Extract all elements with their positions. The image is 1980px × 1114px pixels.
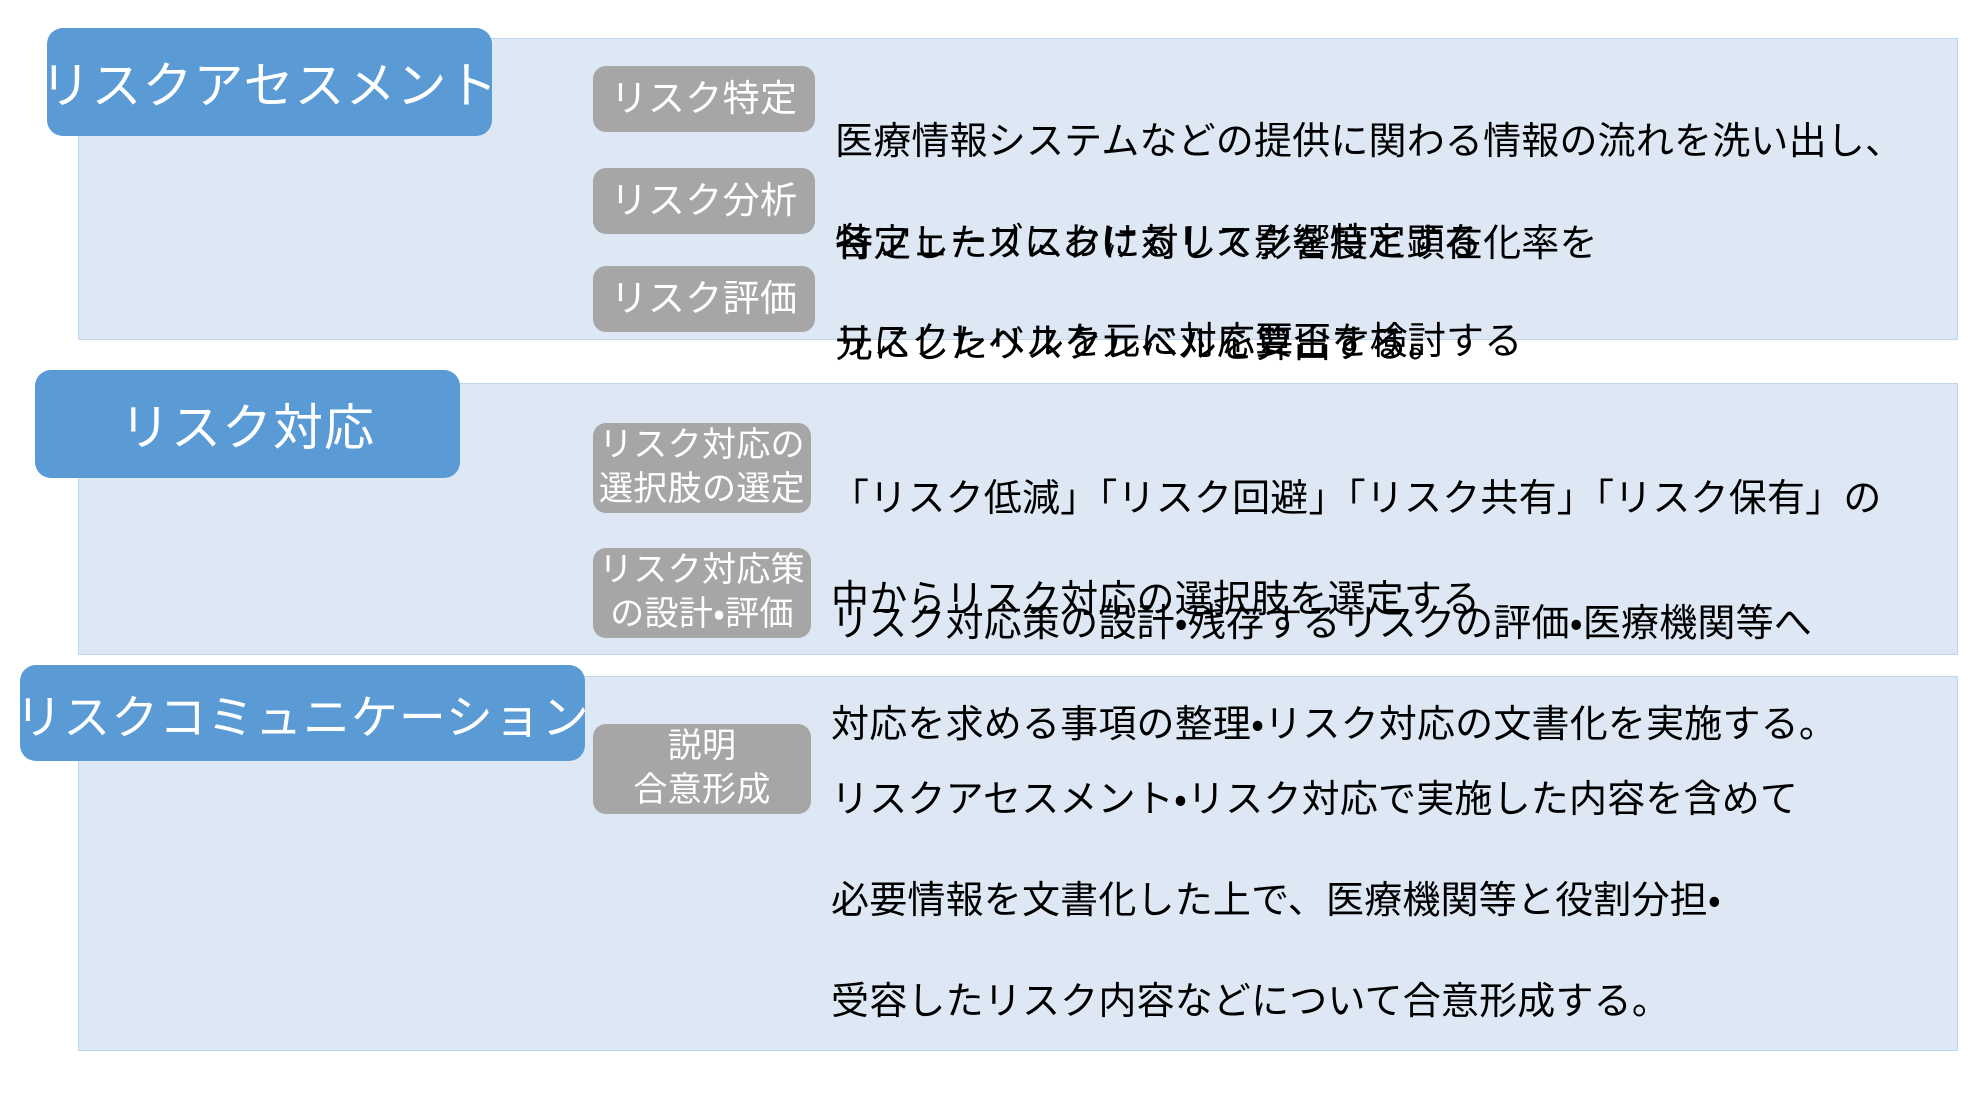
step-chip-risk-analysis: リスク分析 [593, 168, 815, 234]
step-chip-line: リスク分析 [611, 177, 798, 224]
step-chip-explanation-consensus: 説明 合意形成 [593, 724, 811, 814]
step-row-risk-evaluation: リスク評価 リスクレベルを元に対応要否を検討する [593, 266, 1923, 418]
description-line: 医療情報システムなどの提供に関わる情報の流れを洗い出し、 [835, 117, 1923, 168]
step-chip-line: リスク対応策 [599, 549, 805, 593]
description-line: リスクレベルを元に対応要否を検討する [835, 317, 1923, 368]
description-line: 受容したリスク内容などについて合意形成する。 [831, 977, 1933, 1028]
description-line: 必要情報を文書化した上で、医療機関等と役割分担・ [831, 876, 1933, 927]
step-chip-treatment-option-selection: リスク対応の 選択肢の選定 [593, 423, 811, 513]
step-row-explanation-consensus: 説明 合意形成 リスクアセスメント・リスク対応で実施した内容を含めて 必要情報を… [593, 724, 1933, 1078]
section-tab-label: リスクアセスメント [41, 46, 499, 118]
step-chip-line: 合意形成 [633, 769, 770, 813]
section-tab-risk-assessment: リスクアセスメント [47, 28, 492, 136]
description-line: リスク対応策の設計・残存するリスクの評価・医療機関等へ [831, 599, 1933, 650]
risk-management-process-diagram: リスクアセスメント リスク特定 医療情報システムなどの提供に関わる情報の流れを洗… [0, 0, 1980, 1114]
description-line: 「リスク低減」「リスク回避」「リスク共有」「リスク保有」の [831, 474, 1933, 525]
step-chip-line: 説明 [668, 725, 737, 769]
section-tab-risk-communication: リスクコミュニケーション [20, 665, 585, 761]
step-chip-risk-identification: リスク特定 [593, 66, 815, 132]
step-chip-risk-evaluation: リスク評価 [593, 266, 815, 332]
step-chip-line: の設計・評価 [610, 593, 794, 637]
step-chip-line: リスク評価 [611, 275, 798, 322]
step-description-explanation-consensus: リスクアセスメント・リスク対応で実施した内容を含めて 必要情報を文書化した上で、… [831, 724, 1933, 1078]
step-chip-line: リスク特定 [611, 75, 798, 122]
section-tab-risk-treatment: リスク対応 [35, 370, 460, 478]
description-line: 特定したリスクに対して影響度と顕在化率を [835, 219, 1923, 270]
step-chip-line: リスク対応の [599, 424, 805, 468]
step-chip-treatment-design-evaluation: リスク対応策 の設計・評価 [593, 548, 811, 638]
section-tab-label: リスク対応 [120, 388, 375, 460]
description-line: リスクアセスメント・リスク対応で実施した内容を含めて [831, 775, 1933, 826]
step-chip-line: 選択肢の選定 [599, 468, 805, 512]
step-description-risk-evaluation: リスクレベルを元に対応要否を検討する [835, 266, 1923, 418]
section-tab-label: リスクコミュニケーション [15, 679, 589, 748]
